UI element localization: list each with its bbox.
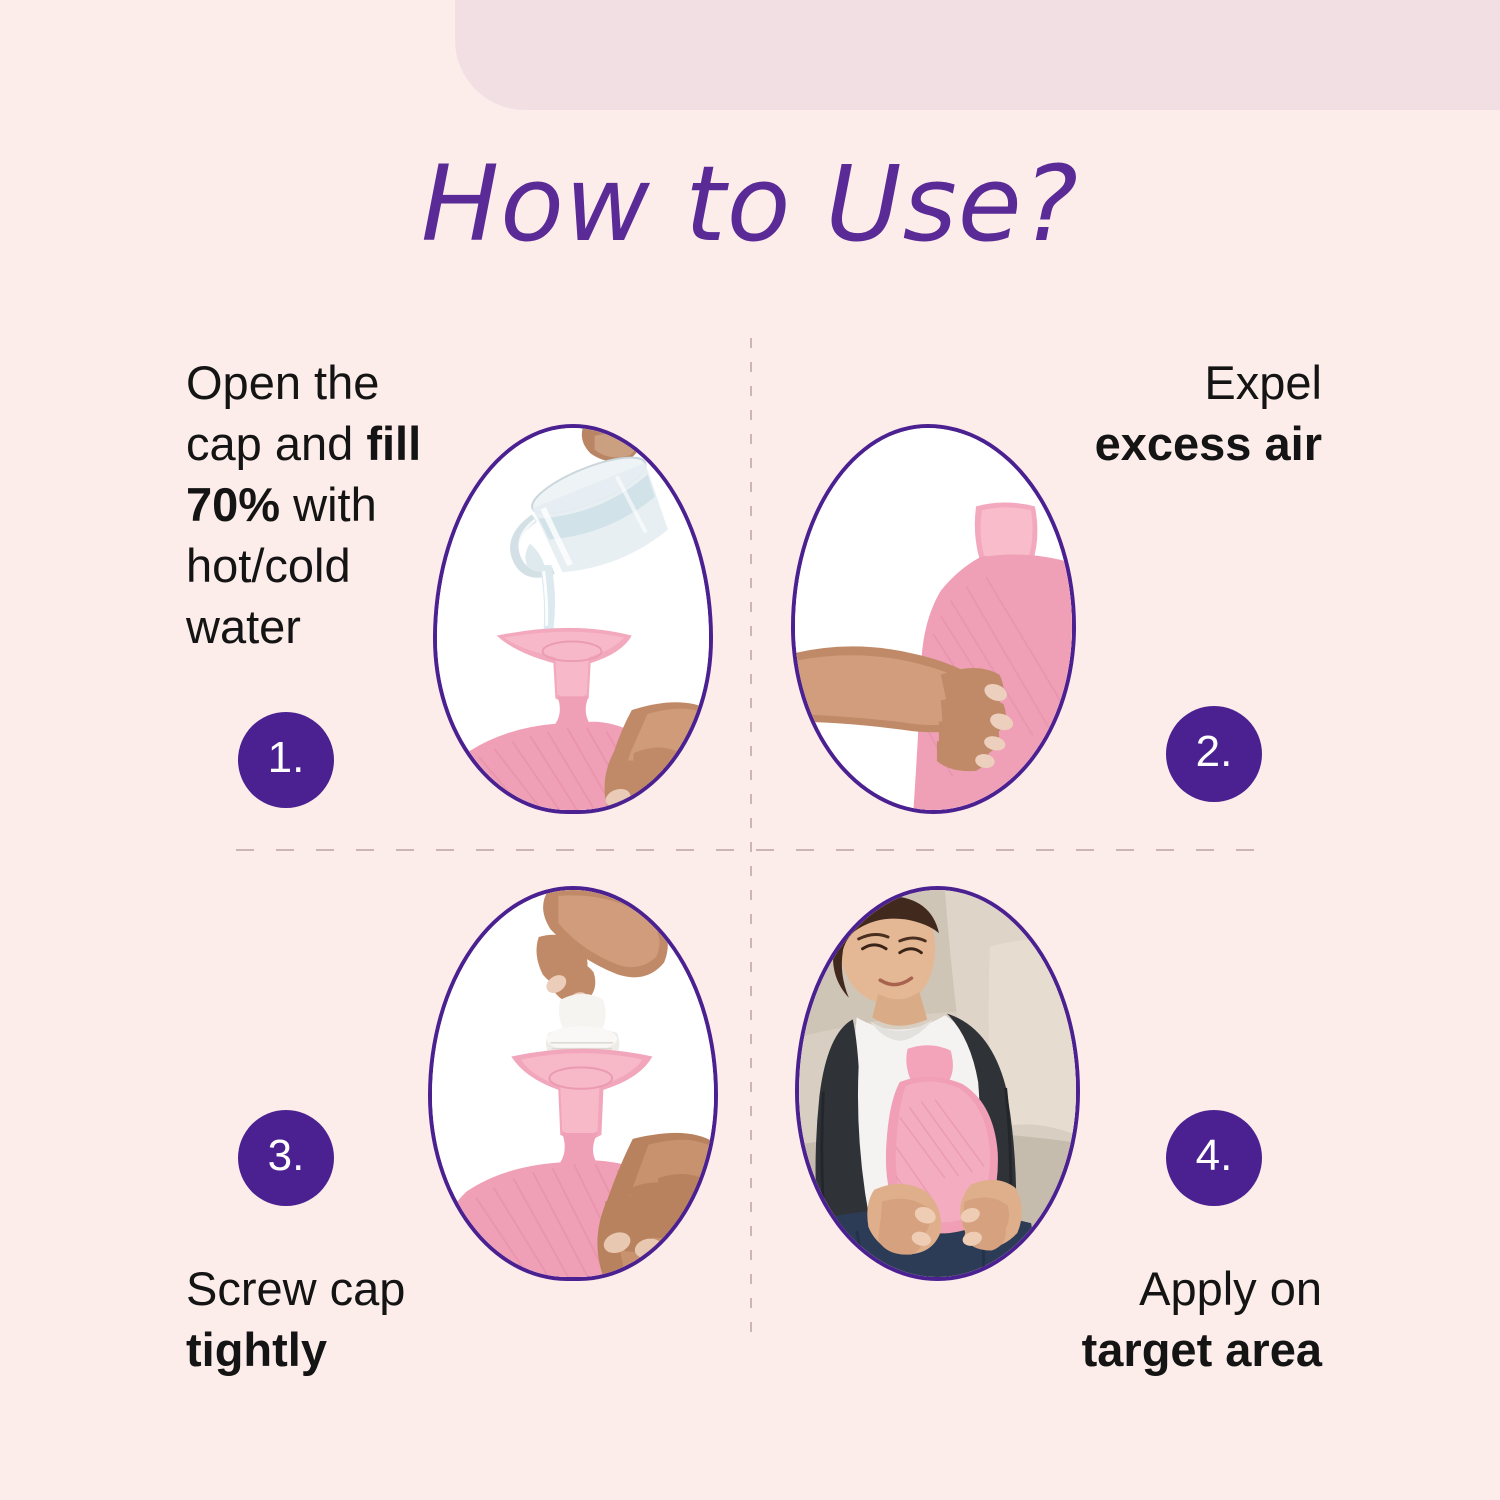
step-3-number-badge: 3. bbox=[238, 1110, 334, 1206]
step-1-image-card bbox=[433, 424, 713, 814]
step-3-photo-screw-cap bbox=[432, 890, 714, 1277]
step-4-number-badge: 4. bbox=[1166, 1110, 1262, 1206]
step-4-photo-apply-on-body bbox=[799, 890, 1076, 1277]
step-4-image-card bbox=[795, 886, 1080, 1281]
step-1-number-badge: 1. bbox=[238, 712, 334, 808]
step-2-photo-expel-air bbox=[795, 428, 1072, 810]
step-3-image-card bbox=[428, 886, 718, 1281]
step-2-image-card bbox=[791, 424, 1076, 814]
vertical-dashed-divider bbox=[750, 338, 752, 1343]
how-to-use-infographic: How to Use? Open the cap and fill 70% wi… bbox=[0, 0, 1500, 1500]
step-1-caption: Open the cap and fill 70% with hot/cold … bbox=[186, 352, 466, 657]
page-title: How to Use? bbox=[0, 150, 1500, 259]
step-2-number-badge: 2. bbox=[1166, 706, 1262, 802]
step-1-photo-pouring-water bbox=[437, 428, 709, 810]
horizontal-dashed-divider bbox=[236, 849, 1266, 851]
top-decorative-band bbox=[455, 0, 1500, 110]
